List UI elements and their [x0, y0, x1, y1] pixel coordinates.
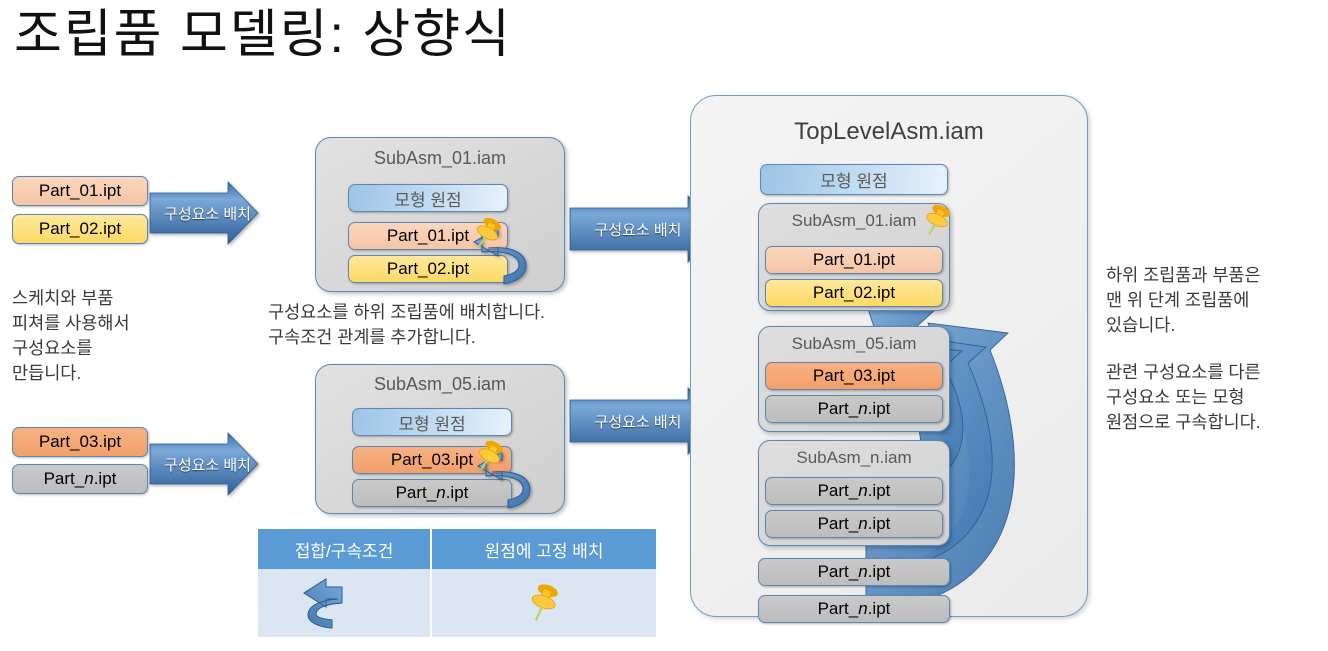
- part-n-italic: n: [436, 483, 445, 503]
- part-n-suffix: .ipt: [868, 514, 891, 534]
- arrow-label-4: 구성요소 배치: [588, 411, 688, 432]
- part-n-prefix: Part_: [396, 483, 437, 503]
- left-note: 스케치와 부품 피쳐를 사용해서 구성요소를 만듭니다.: [12, 286, 192, 385]
- part-n-italic: n: [858, 399, 867, 419]
- left-part-n[interactable]: Part_n.ipt: [12, 464, 148, 494]
- part-n-prefix: Part_: [818, 514, 859, 534]
- top-subasm-n-part-2[interactable]: Part_n.ipt: [765, 510, 943, 538]
- part-n-suffix: .ipt: [446, 483, 469, 503]
- part-n-italic: n: [84, 469, 93, 489]
- part-n-prefix: Part_: [818, 599, 859, 619]
- left-part-03[interactable]: Part_03.ipt: [12, 427, 148, 457]
- legend-header-grounded: 원점에 고정 배치: [432, 529, 656, 569]
- part-n-prefix: Part_: [818, 399, 859, 419]
- top-group-subasm-n-title: SubAsm_n.iam: [759, 448, 949, 468]
- pushpin-icon-subasm-05: [473, 437, 507, 473]
- pushpin-icon: [524, 579, 564, 627]
- subasm-01-origin[interactable]: 모형 원점: [348, 184, 508, 212]
- page-title: 조립품 모델링: 상향식: [14, 0, 512, 67]
- part-n-suffix: .ipt: [94, 469, 117, 489]
- part-n-italic: n: [858, 514, 867, 534]
- part-n-suffix: .ipt: [868, 399, 891, 419]
- part-n-suffix: .ipt: [868, 562, 891, 582]
- part-n-suffix: .ipt: [868, 481, 891, 501]
- subasm-05-title: SubAsm_05.iam: [316, 374, 564, 395]
- legend-cell-grounded: [432, 569, 656, 637]
- top-subasm-01-part-02[interactable]: Part_02.ipt: [765, 279, 943, 307]
- top-group-subasm-05-title: SubAsm_05.iam: [759, 334, 949, 354]
- left-part-02[interactable]: Part_02.ipt: [12, 214, 148, 244]
- top-level-origin[interactable]: 모형 원점: [760, 164, 948, 195]
- part-n-italic: n: [858, 599, 867, 619]
- right-note-1: 하위 조립품과 부품은 맨 위 단계 조립품에 있습니다.: [1106, 263, 1321, 338]
- pushpin-icon-subasm-01: [471, 214, 505, 250]
- diagram-canvas: 조립품 모델링: 상향식: [0, 0, 1328, 651]
- circular-arrows-icon: [284, 575, 404, 631]
- legend-table: 접합/구속조건 원점에 고정 배치: [257, 528, 657, 636]
- top-loose-part-1[interactable]: Part_n.ipt: [758, 558, 950, 586]
- legend-header-constraint: 접합/구속조건: [258, 529, 432, 569]
- left-part-01[interactable]: Part_01.ipt: [12, 176, 148, 206]
- part-n-italic: n: [858, 562, 867, 582]
- part-n-suffix: .ipt: [868, 599, 891, 619]
- pushpin-icon-top-subasm-01: [920, 201, 954, 239]
- top-subasm-n-part-1[interactable]: Part_n.ipt: [765, 477, 943, 505]
- part-n-prefix: Part_: [818, 481, 859, 501]
- top-subasm-05-part-n[interactable]: Part_n.ipt: [765, 395, 943, 423]
- part-n-italic: n: [858, 481, 867, 501]
- part-n-prefix: Part_: [818, 562, 859, 582]
- subasm-05-origin[interactable]: 모형 원점: [352, 408, 512, 436]
- top-subasm-01-part-01[interactable]: Part_01.ipt: [765, 246, 943, 274]
- arrow-label-3: 구성요소 배치: [160, 454, 255, 475]
- arrow-label-2: 구성요소 배치: [588, 219, 688, 240]
- subasm-01-title: SubAsm_01.iam: [316, 148, 564, 169]
- mid-note: 구성요소를 하위 조립품에 배치합니다. 구속조건 관계를 추가합니다.: [268, 300, 688, 350]
- top-loose-part-2[interactable]: Part_n.ipt: [758, 595, 950, 623]
- right-note-2: 관련 구성요소를 다른 구성요소 또는 모형 원점으로 구속합니다.: [1106, 360, 1321, 435]
- top-subasm-05-part-03[interactable]: Part_03.ipt: [765, 362, 943, 390]
- legend-cell-constraint: [258, 569, 432, 637]
- top-level-title: TopLevelAsm.iam: [691, 118, 1087, 146]
- part-n-prefix: Part_: [44, 469, 85, 489]
- arrow-label-1: 구성요소 배치: [160, 203, 255, 224]
